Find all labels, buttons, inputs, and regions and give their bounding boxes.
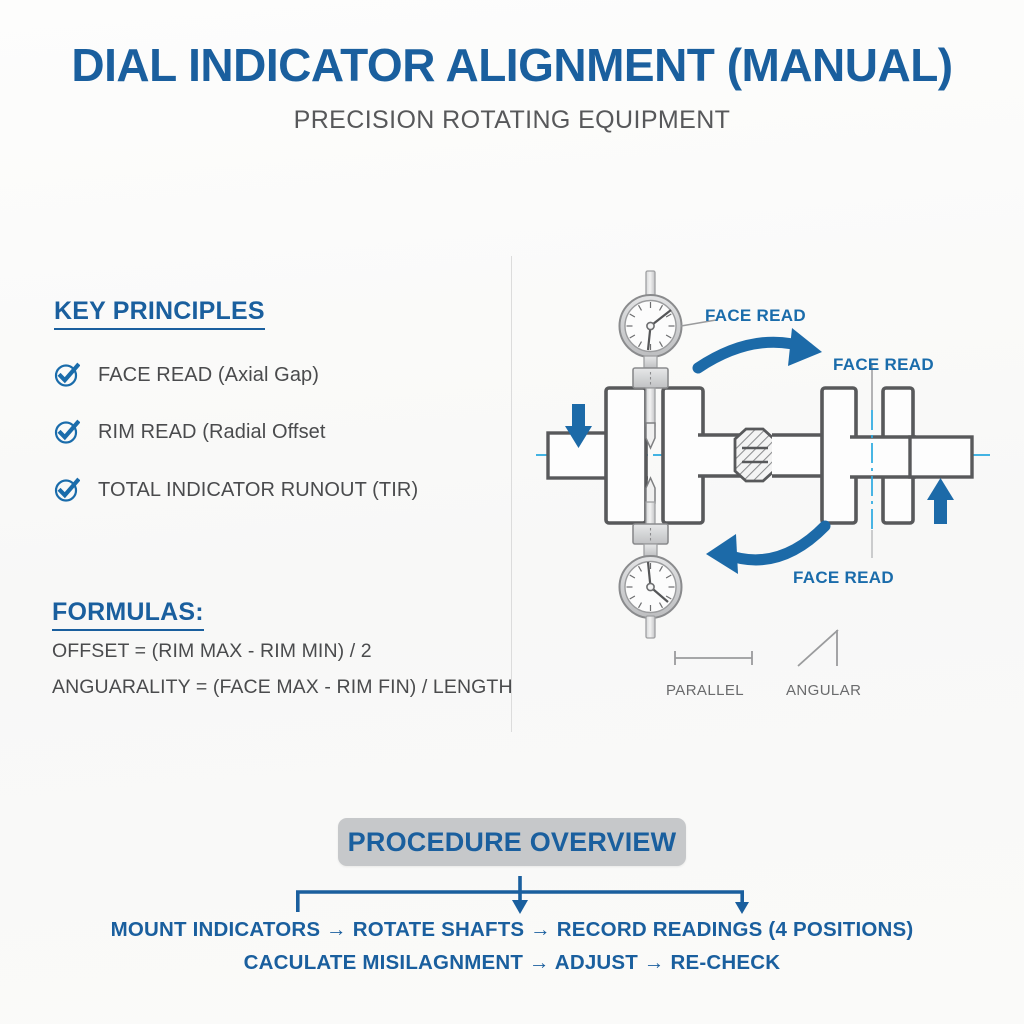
legend-label-parallel: PARALLEL (666, 682, 744, 699)
procedure-overview-banner: PROCEDURE OVERVIEW (338, 818, 686, 866)
check-circle-icon (54, 477, 80, 503)
face-read-label-right: FACE READ (833, 355, 934, 375)
check-circle-icon (54, 419, 80, 445)
key-principle-item: FACE READ (Axial Gap) (54, 362, 319, 388)
procedure-steps-line-2: CACULATE MISILAGNMENT → ADJUST → RE-CHEC… (0, 951, 1024, 975)
shaft-right (850, 437, 972, 477)
procedure-steps-line-1: MOUNT INDICATORS → ROTATE SHAFTS → RECOR… (0, 918, 1024, 942)
face-read-label-top: FACE READ (705, 306, 806, 326)
procedure-bracket (280, 868, 760, 918)
hatched-coupling-hub (735, 429, 774, 481)
formula-angularity: ANGUARALITY = (FACE MAX - RIM FIN) / LEN… (52, 676, 513, 699)
load-arrow-up-right (927, 478, 954, 524)
key-principle-item: TOTAL INDICATOR RUNOUT (TIR) (54, 477, 418, 503)
column-divider (511, 256, 512, 732)
key-principle-label: FACE READ (Axial Gap) (98, 364, 319, 387)
rotation-arrow-lower (706, 526, 825, 574)
check-circle-icon (54, 362, 80, 388)
coupling-flange-left-inner (663, 388, 703, 523)
formula-offset: OFFSET = (RIM MAX - RIM MIN) / 2 (52, 640, 372, 663)
face-read-label-bottom: FACE READ (793, 568, 894, 588)
key-principle-label: TOTAL INDICATOR RUNOUT (TIR) (98, 479, 418, 502)
rotation-arrow-upper (698, 328, 822, 368)
page-title: DIAL INDICATOR ALIGNMENT (MANUAL) (0, 38, 1024, 92)
page-subtitle: PRECISION ROTATING EQUIPMENT (0, 106, 1024, 135)
procedure-overview-label: PROCEDURE OVERVIEW (348, 827, 677, 858)
key-principles-heading: KEY PRINCIPLES (54, 297, 265, 330)
coupling-flange-left-outer (606, 388, 646, 523)
formulas-heading: FORMULAS: (52, 598, 204, 631)
alignment-diagram (520, 258, 1004, 720)
angular-offset-icon (798, 630, 838, 666)
infographic-canvas: DIAL INDICATOR ALIGNMENT (MANUAL) PRECIS… (0, 0, 1024, 1024)
key-principle-label: RIM READ (Radial Offset (98, 421, 326, 444)
legend-label-angular: ANGULAR (786, 682, 861, 699)
key-principle-item: RIM READ (Radial Offset (54, 419, 326, 445)
parallel-offset-icon (675, 651, 752, 665)
